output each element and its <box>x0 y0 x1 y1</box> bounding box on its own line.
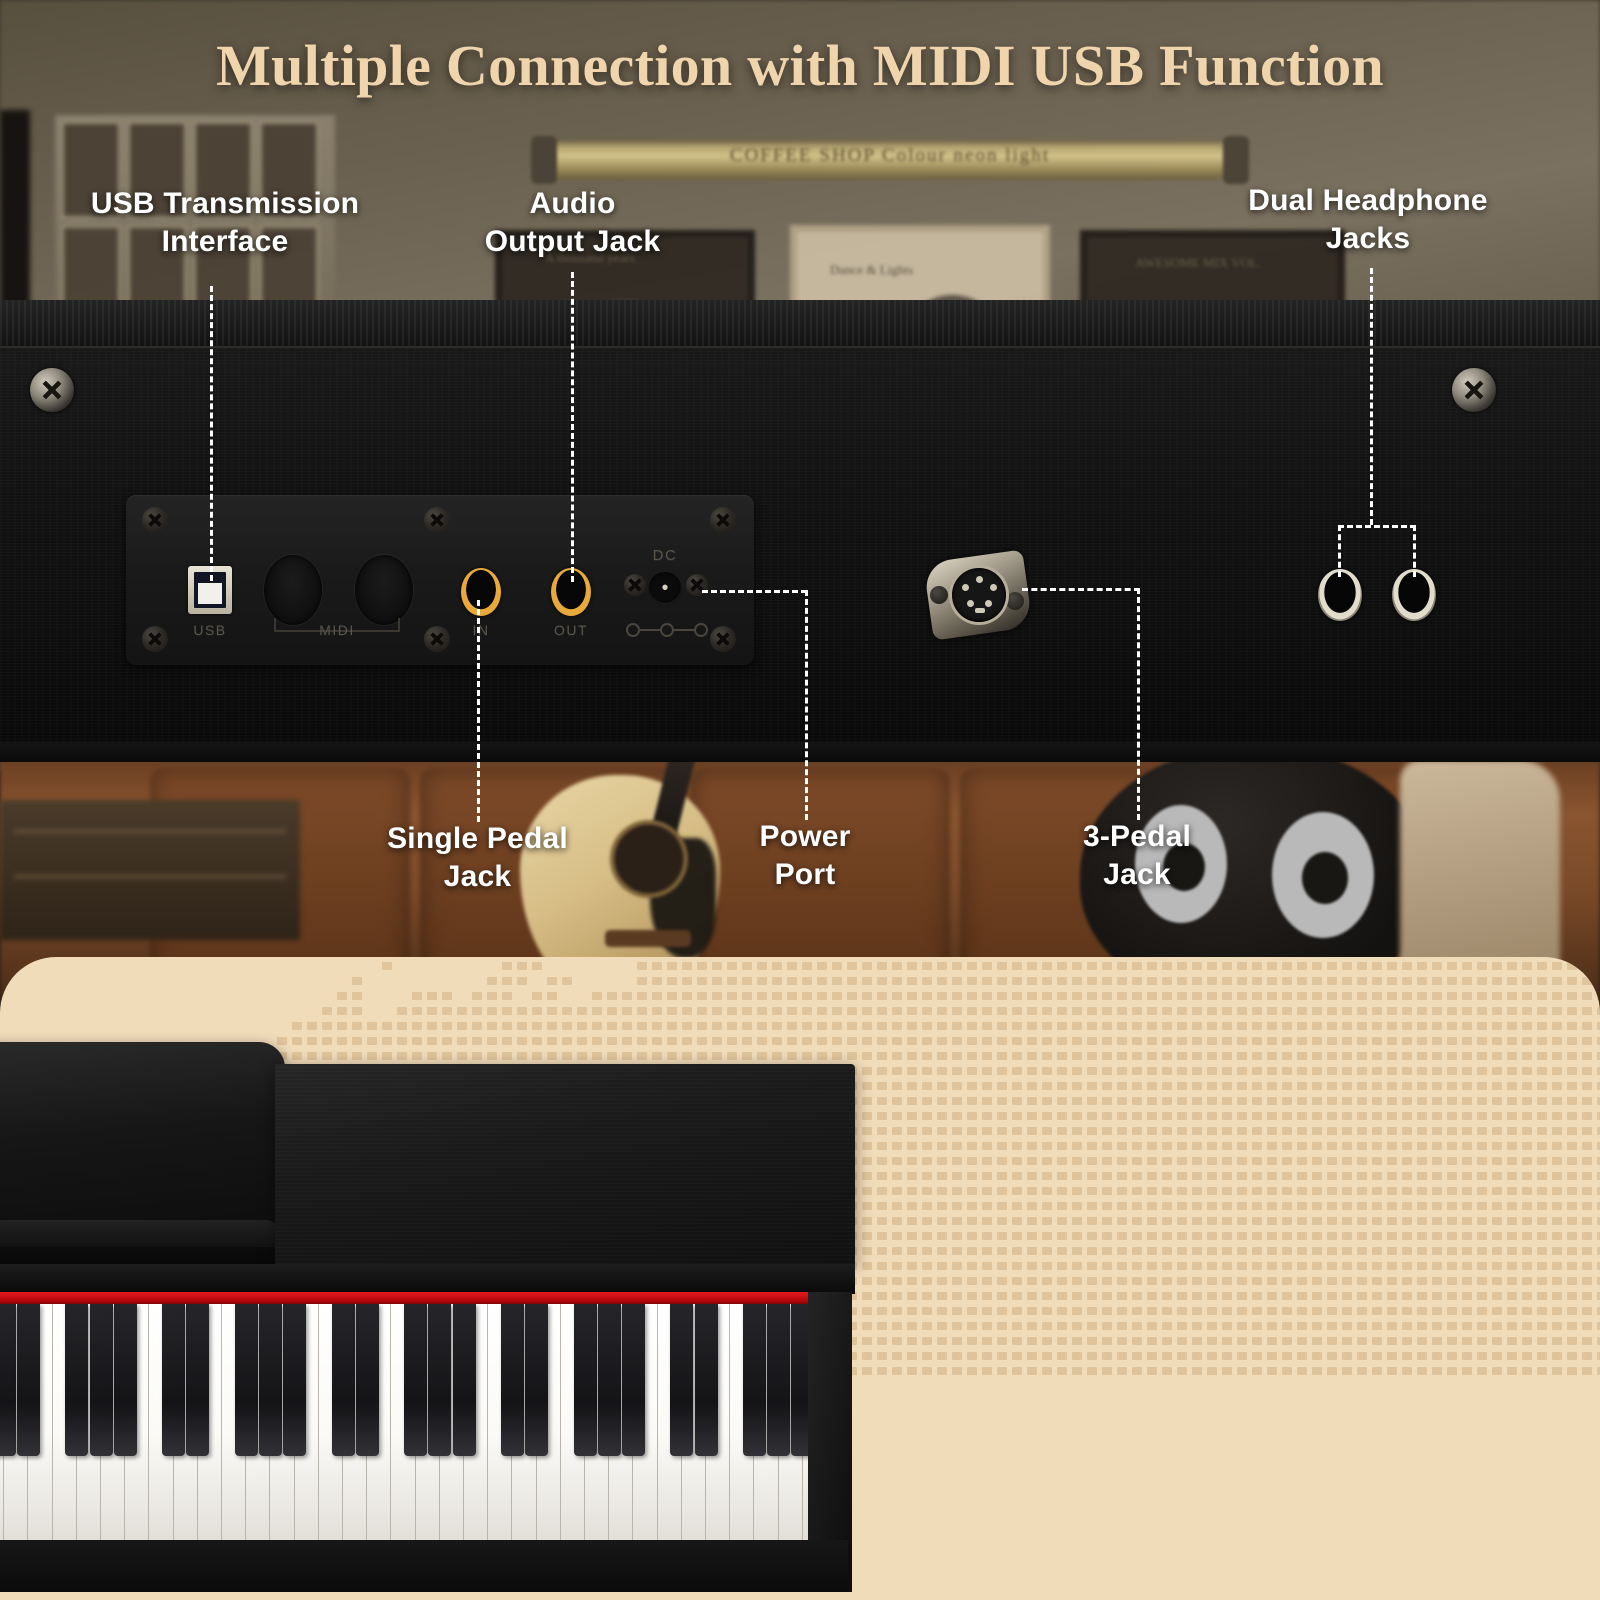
piano-black-key[interactable] <box>743 1304 766 1456</box>
guitar-bridge <box>605 930 691 947</box>
callout-line-headphones-main <box>1370 268 1373 525</box>
piano-black-key[interactable] <box>332 1304 355 1456</box>
piano-black-key[interactable] <box>574 1304 597 1456</box>
piano-base <box>0 1540 848 1592</box>
plate-screw <box>424 507 450 533</box>
callout-line-headphone-2 <box>1413 525 1416 577</box>
page-title: Multiple Connection with MIDI USB Functi… <box>0 32 1600 99</box>
plate-screw <box>142 507 168 533</box>
label-audio-output-jack: Audio Output Jack <box>440 185 705 261</box>
side-drawer <box>0 800 300 940</box>
piano-black-key[interactable] <box>356 1304 379 1456</box>
label-dual-headphone-jacks: Dual Headphone Jacks <box>1208 182 1528 258</box>
piano-bottom-edge <box>0 742 1600 762</box>
chassis-screw-right <box>1452 368 1496 412</box>
piano-black-key[interactable] <box>501 1304 524 1456</box>
callout-line-single-pedal <box>477 600 480 822</box>
plate-screw <box>710 626 736 652</box>
piano-black-key[interactable] <box>186 1304 209 1456</box>
piano-black-key[interactable] <box>598 1304 621 1456</box>
piano-lid-front <box>0 1264 855 1294</box>
piano-black-key[interactable] <box>622 1304 645 1456</box>
label-usb-transmission-interface: USB Transmission Interface <box>65 185 385 261</box>
piano-black-key[interactable] <box>90 1304 113 1456</box>
midi-out-din-port[interactable] <box>355 555 413 625</box>
piano-black-key[interactable] <box>695 1304 718 1456</box>
piano-keybed[interactable] <box>0 1304 810 1542</box>
callout-line-headphones-branch <box>1338 525 1416 528</box>
callout-line-headphone-1 <box>1338 525 1341 577</box>
piano-black-key[interactable] <box>767 1304 790 1456</box>
neon-sign-text: COFFEE SHOP Colour neon light <box>545 145 1235 175</box>
piano-top-lid <box>275 1064 855 1264</box>
single-pedal-jack-port[interactable] <box>461 568 501 616</box>
midi-port-label: MIDI <box>305 622 369 638</box>
piano-black-key[interactable] <box>670 1304 693 1456</box>
dc-polarity-symbol <box>626 622 708 638</box>
pedal-jack-screw-left <box>930 586 948 604</box>
bottom-feature-card: GarageBand APP PERFECT piano Perfect Pia… <box>0 957 1600 1600</box>
out-jack-label: OUT <box>540 622 602 638</box>
dc-screw-left <box>624 574 646 596</box>
throw-blanket <box>1400 760 1560 980</box>
chassis-screw-left <box>30 368 74 412</box>
piano-black-key[interactable] <box>525 1304 548 1456</box>
dc-power-port[interactable] <box>648 572 682 606</box>
dc-port-label: DC <box>639 547 691 564</box>
callout-line-usb <box>210 286 213 581</box>
plush-eye-right <box>1272 812 1374 938</box>
digital-piano-product-image <box>0 1042 860 1562</box>
piano-black-key[interactable] <box>17 1304 40 1456</box>
label-3-pedal-jack: 3-Pedal Jack <box>1032 818 1242 894</box>
music-stand-lip <box>0 1220 280 1250</box>
guitar-soundhole <box>610 820 688 898</box>
piano-black-key[interactable] <box>428 1304 451 1456</box>
piano-black-key[interactable] <box>283 1304 306 1456</box>
framed-art-2-text: Dance & Lights <box>830 262 913 278</box>
piano-black-key[interactable] <box>162 1304 185 1456</box>
callout-line-3pedal-h <box>1022 588 1140 591</box>
piano-black-key[interactable] <box>65 1304 88 1456</box>
plate-screw <box>424 626 450 652</box>
callout-line-power-h <box>702 590 807 593</box>
callout-line-3pedal-v <box>1137 588 1140 820</box>
pedal-jack-screw-right <box>1006 592 1024 610</box>
infographic-root: COFFEE SHOP Colour neon light A thousand… <box>0 0 1600 1600</box>
in-jack-label: IN <box>452 622 510 638</box>
piano-black-key[interactable] <box>235 1304 258 1456</box>
plate-screw <box>710 507 736 533</box>
midi-in-din-port[interactable] <box>264 555 322 625</box>
music-stand <box>0 1042 285 1242</box>
callout-line-power-v <box>805 590 808 820</box>
piano-black-key[interactable] <box>0 1304 16 1456</box>
callout-line-audio-out <box>571 272 574 582</box>
label-power-port: Power Port <box>700 818 910 894</box>
label-single-pedal-jack: Single Pedal Jack <box>340 820 615 896</box>
plate-screw <box>142 626 168 652</box>
piano-black-key[interactable] <box>259 1304 282 1456</box>
three-pedal-din-jack[interactable] <box>928 550 1028 640</box>
piano-black-key[interactable] <box>404 1304 427 1456</box>
usb-port-label: USB <box>178 622 242 638</box>
piano-black-key[interactable] <box>114 1304 137 1456</box>
piano-top-edge <box>0 300 1600 348</box>
pedal-jack-hole <box>952 568 1006 622</box>
piano-black-key[interactable] <box>453 1304 476 1456</box>
